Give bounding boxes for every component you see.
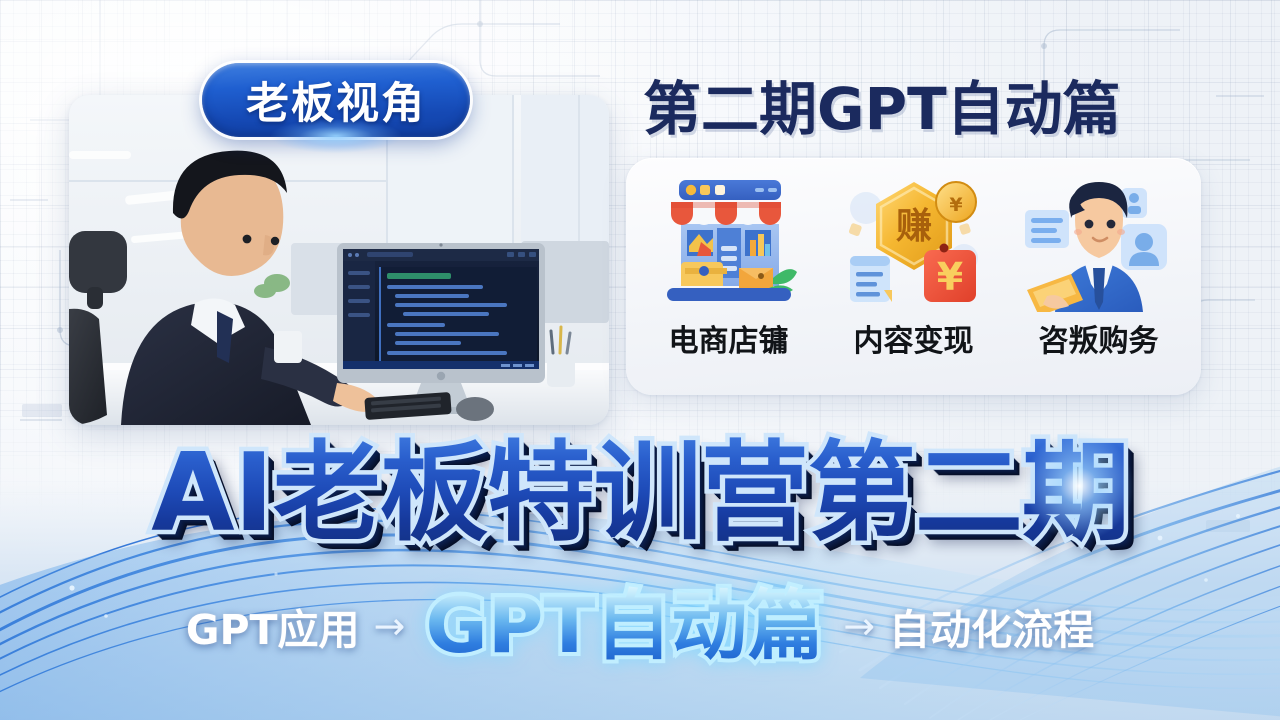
consultant-icon <box>1025 172 1173 312</box>
hero-photo-card <box>69 95 609 425</box>
office-photo-illustration <box>69 95 609 425</box>
feature-item-monetization[interactable]: 赚 ¥ ¥ 内容变现 <box>821 172 1006 385</box>
money-badge-icon: 赚 ¥ ¥ <box>840 172 988 312</box>
feature-item-consulting[interactable]: 咨叛购务 <box>1006 172 1191 385</box>
subtitle-left: GPT应用 <box>186 596 360 656</box>
feature-label-ecommerce: 电商店镛 <box>669 316 789 360</box>
feature-label-consulting: 咨叛购务 <box>1039 316 1159 360</box>
subtitle-center-face: GPT自动篇 <box>425 581 823 670</box>
boss-perspective-badge[interactable]: 老板视角 <box>202 63 470 137</box>
arrow-right-icon-right: → <box>843 607 875 645</box>
boss-perspective-badge-label: 老板视角 <box>246 69 426 131</box>
subtitle-row: GPT应用 → GPT自动篇 GPT自动篇 → 自动化流程 <box>0 586 1280 666</box>
feature-panel: 电商店镛 <box>626 158 1201 395</box>
svg-text:¥: ¥ <box>936 255 962 299</box>
hero-title-face: AI老板特训营第二期 <box>151 431 1129 556</box>
subtitle-right: 自动化流程 <box>889 596 1094 656</box>
svg-text:¥: ¥ <box>949 194 962 216</box>
header-title: 第二期GPT自动篇 <box>643 62 1121 146</box>
arrow-right-icon-left: → <box>374 607 406 645</box>
svg-text:赚: 赚 <box>895 206 931 247</box>
poster-canvas: 老板视角 第二期GPT自动篇 <box>0 0 1280 720</box>
hero-title: AI老板特训营第二期 AI老板特训营第二期 AI老板特训营第二期 <box>151 440 1129 548</box>
subtitle-center: GPT自动篇 GPT自动篇 <box>425 588 823 664</box>
feature-item-ecommerce[interactable]: 电商店镛 <box>636 172 821 385</box>
storefront-icon <box>655 172 803 312</box>
feature-label-monetization: 内容变现 <box>854 316 974 360</box>
hero-title-block: AI老板特训营第二期 AI老板特训营第二期 AI老板特训营第二期 <box>0 424 1280 564</box>
